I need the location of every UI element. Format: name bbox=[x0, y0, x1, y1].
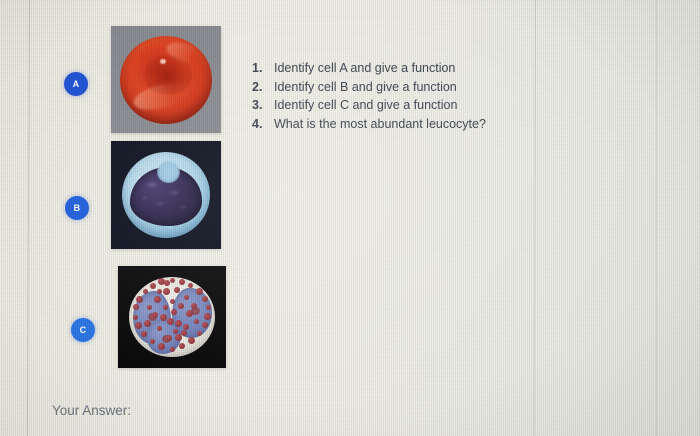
eosinophil-granule bbox=[133, 315, 138, 320]
page-rule-line-right bbox=[656, 0, 657, 436]
eosinophil-granule bbox=[170, 278, 175, 283]
page-edge-line-left bbox=[27, 0, 30, 436]
question-list: 1. Identify cell A and give a function 2… bbox=[252, 59, 520, 133]
eosinophil-granule bbox=[160, 314, 167, 321]
eosinophil-granule bbox=[186, 310, 193, 317]
eosinophil-granule bbox=[157, 289, 162, 294]
question-text-3: Identify cell C and give a function bbox=[274, 96, 520, 115]
eosinophil-granule bbox=[141, 331, 147, 337]
eosinophil-granule bbox=[150, 339, 155, 344]
cell-label-b: B bbox=[65, 196, 89, 220]
eosinophil-granule bbox=[191, 303, 197, 309]
cell-label-c: C bbox=[71, 318, 95, 342]
eosinophil-granule bbox=[183, 324, 189, 330]
eosinophil-granule bbox=[179, 343, 185, 349]
eosinophil-granule bbox=[170, 347, 175, 352]
cell-label-c-text: C bbox=[80, 325, 87, 335]
cell-label-b-text: B bbox=[74, 203, 81, 213]
eosinophil-granule bbox=[152, 312, 158, 318]
erythrocyte-graphic bbox=[120, 36, 212, 124]
eosinophil-granule bbox=[136, 296, 143, 303]
question-item-4: 4. What is the most abundant leucocyte? bbox=[252, 115, 520, 134]
eosinophil-granule bbox=[163, 288, 170, 295]
cell-image-panel-b bbox=[111, 141, 221, 249]
eosinophil-granule bbox=[158, 343, 165, 350]
leukocyte-b-graphic bbox=[122, 152, 210, 238]
eosinophil-granules bbox=[129, 277, 215, 357]
cell-image-panel-a bbox=[111, 26, 221, 133]
eosinophil-granule bbox=[178, 303, 184, 309]
eosinophil-granule bbox=[194, 319, 199, 324]
eosinophil-granule bbox=[173, 329, 178, 334]
eosinophil-granule bbox=[171, 309, 177, 315]
eosinophil-granule bbox=[206, 305, 211, 310]
question-item-3: 3. Identify cell C and give a function bbox=[252, 96, 520, 115]
erythrocyte-highlight-lower bbox=[131, 78, 192, 114]
eosinophil-granule bbox=[154, 296, 161, 303]
eosinophil-granule bbox=[204, 313, 211, 320]
eosinophil-granule bbox=[143, 289, 148, 294]
eosinophil-granule bbox=[167, 318, 174, 325]
cell-label-a-text: A bbox=[73, 79, 80, 89]
question-number-2: 2. bbox=[252, 78, 274, 97]
leukocyte-b-nucleus-indentation bbox=[157, 161, 180, 183]
question-number-1: 1. bbox=[252, 59, 274, 78]
eosinophil-granule bbox=[202, 296, 208, 302]
eosinophil-granule bbox=[202, 322, 208, 328]
eosinophil-granule bbox=[150, 283, 156, 289]
eosinophil-granule bbox=[133, 304, 139, 310]
eosinophil-granule bbox=[164, 280, 170, 286]
page-rule-line-middle bbox=[534, 0, 536, 436]
eosinophil-granule bbox=[147, 305, 152, 310]
eosinophil-granule bbox=[188, 337, 195, 344]
eosinophil-granule bbox=[163, 305, 168, 310]
eosinophil-granule bbox=[188, 283, 193, 288]
eosinophil-granule bbox=[166, 335, 172, 341]
eosinophil-granule bbox=[174, 287, 180, 293]
question-number-3: 3. bbox=[252, 96, 274, 115]
your-answer-label: Your Answer: bbox=[52, 403, 131, 418]
cell-label-a: A bbox=[64, 72, 88, 96]
eosinophil-graphic bbox=[129, 277, 215, 357]
eosinophil-granule bbox=[135, 322, 142, 329]
question-number-4: 4. bbox=[252, 115, 274, 134]
eosinophil-granule bbox=[197, 331, 202, 336]
eosinophil-granule bbox=[179, 279, 185, 285]
eosinophil-granule bbox=[170, 299, 175, 304]
question-text-2: Identify cell B and give a function bbox=[274, 78, 520, 97]
eosinophil-granule bbox=[157, 326, 162, 331]
cell-image-panel-c bbox=[118, 266, 226, 368]
eosinophil-granule bbox=[196, 288, 203, 295]
question-item-1: 1. Identify cell A and give a function bbox=[252, 59, 520, 78]
eosinophil-granule bbox=[184, 295, 189, 300]
worksheet-page: A B C bbox=[0, 0, 700, 436]
question-text-1: Identify cell A and give a function bbox=[274, 59, 520, 78]
eosinophil-granule bbox=[175, 320, 182, 327]
question-item-2: 2. Identify cell B and give a function bbox=[252, 78, 520, 97]
eosinophil-granule bbox=[181, 330, 187, 336]
question-text-4: What is the most abundant leucocyte? bbox=[274, 115, 520, 134]
eosinophil-granule bbox=[144, 320, 151, 327]
